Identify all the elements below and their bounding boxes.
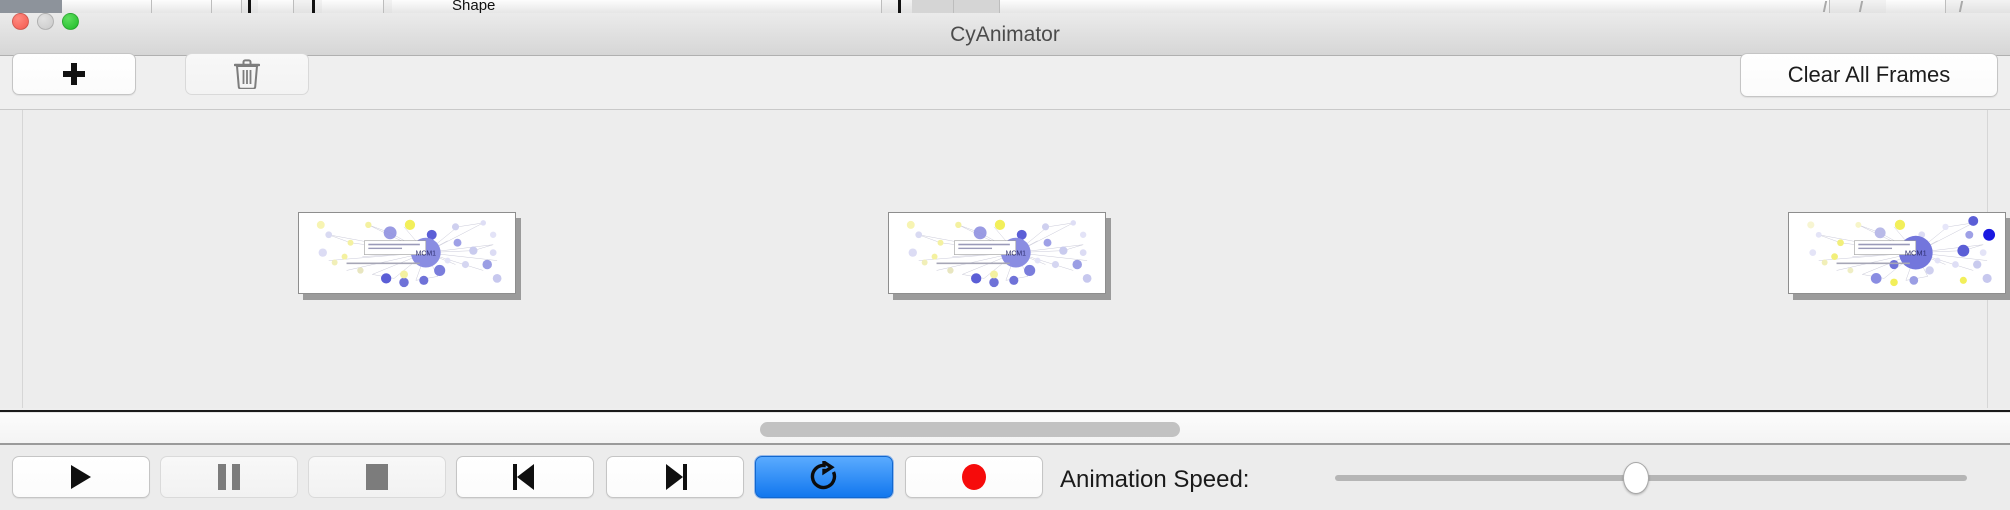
skip-to-start-icon bbox=[513, 464, 537, 490]
playback-control-bar: Animation Speed: bbox=[0, 445, 2010, 510]
network-graph-preview: MCM1 bbox=[889, 213, 1105, 294]
minimize-button[interactable] bbox=[37, 13, 54, 30]
record-icon bbox=[962, 464, 986, 490]
skip-to-start-button[interactable] bbox=[456, 456, 594, 498]
background-window-dark-cell bbox=[0, 0, 62, 13]
trash-icon bbox=[234, 59, 260, 89]
background-window-cell bbox=[954, 0, 1000, 13]
title-bar: CyAnimator bbox=[0, 13, 2010, 56]
play-icon bbox=[71, 465, 91, 489]
background-window-tick bbox=[898, 0, 901, 13]
record-button[interactable] bbox=[905, 456, 1043, 498]
timeline-frame-thumbnail[interactable]: MCM1 bbox=[1788, 212, 2006, 294]
background-window-grip bbox=[1959, 1, 1973, 12]
thumbnail-sheet: MCM1 bbox=[888, 212, 1106, 294]
loop-button[interactable] bbox=[755, 456, 893, 498]
maximize-button[interactable] bbox=[62, 13, 79, 30]
delete-frame-button[interactable] bbox=[185, 53, 309, 95]
play-button[interactable] bbox=[12, 456, 150, 498]
pause-button[interactable] bbox=[160, 456, 298, 498]
animation-speed-slider-thumb[interactable] bbox=[1623, 462, 1649, 494]
background-window-tick bbox=[312, 0, 315, 13]
timeline-panel[interactable]: MCM1 bbox=[0, 110, 2010, 408]
background-window-grip bbox=[1859, 1, 1873, 12]
timeline-frame-thumbnail[interactable]: MCM1 bbox=[888, 212, 1106, 294]
timeline-frame-thumbnail[interactable]: MCM1 bbox=[298, 212, 516, 294]
clear-all-frames-button[interactable]: Clear All Frames bbox=[1740, 53, 1998, 97]
cyanimator-window: Shape CyAnimator Clear All Frames bbox=[0, 0, 2010, 510]
background-window-tick bbox=[248, 0, 251, 13]
background-window-cell bbox=[912, 0, 954, 13]
stop-icon bbox=[366, 464, 388, 490]
add-frame-button[interactable] bbox=[12, 53, 136, 95]
timeline-left-edge bbox=[22, 110, 23, 408]
scrollbar-thumb[interactable] bbox=[760, 422, 1180, 437]
background-window-cell bbox=[1886, 0, 1946, 13]
window-title: CyAnimator bbox=[0, 23, 2010, 47]
skip-to-end-icon bbox=[663, 464, 687, 490]
animation-speed-label: Animation Speed: bbox=[1060, 466, 1249, 494]
svg-text:MCM1: MCM1 bbox=[1905, 249, 1927, 258]
clear-all-frames-label: Clear All Frames bbox=[1788, 62, 1951, 88]
skip-to-end-button[interactable] bbox=[606, 456, 744, 498]
network-graph-preview: MCM1 bbox=[1789, 213, 2005, 294]
pause-icon bbox=[218, 464, 240, 490]
background-window-cell bbox=[258, 0, 294, 13]
svg-text:MCM1: MCM1 bbox=[1006, 251, 1027, 258]
background-window-grip bbox=[1823, 1, 1837, 12]
background-window-cell bbox=[152, 0, 212, 13]
traffic-light-group bbox=[12, 13, 79, 30]
background-window-cell bbox=[322, 0, 384, 13]
background-window-label: Shape bbox=[452, 0, 495, 13]
background-window-cell bbox=[212, 0, 242, 13]
background-window-cell bbox=[1000, 0, 1830, 13]
animation-speed-slider[interactable] bbox=[1335, 475, 1967, 481]
timeline-horizontal-scrollbar[interactable] bbox=[0, 412, 2010, 444]
background-window-sliver: Shape bbox=[0, 0, 2010, 13]
loop-icon bbox=[809, 461, 839, 493]
svg-text:MCM1: MCM1 bbox=[416, 251, 437, 258]
close-button[interactable] bbox=[12, 13, 29, 30]
thumbnail-sheet: MCM1 bbox=[1788, 212, 2006, 294]
plus-icon bbox=[63, 63, 85, 85]
network-graph-preview: MCM1 bbox=[299, 213, 515, 294]
thumbnail-sheet: MCM1 bbox=[298, 212, 516, 294]
stop-button[interactable] bbox=[308, 456, 446, 498]
background-window-cell bbox=[62, 0, 152, 13]
